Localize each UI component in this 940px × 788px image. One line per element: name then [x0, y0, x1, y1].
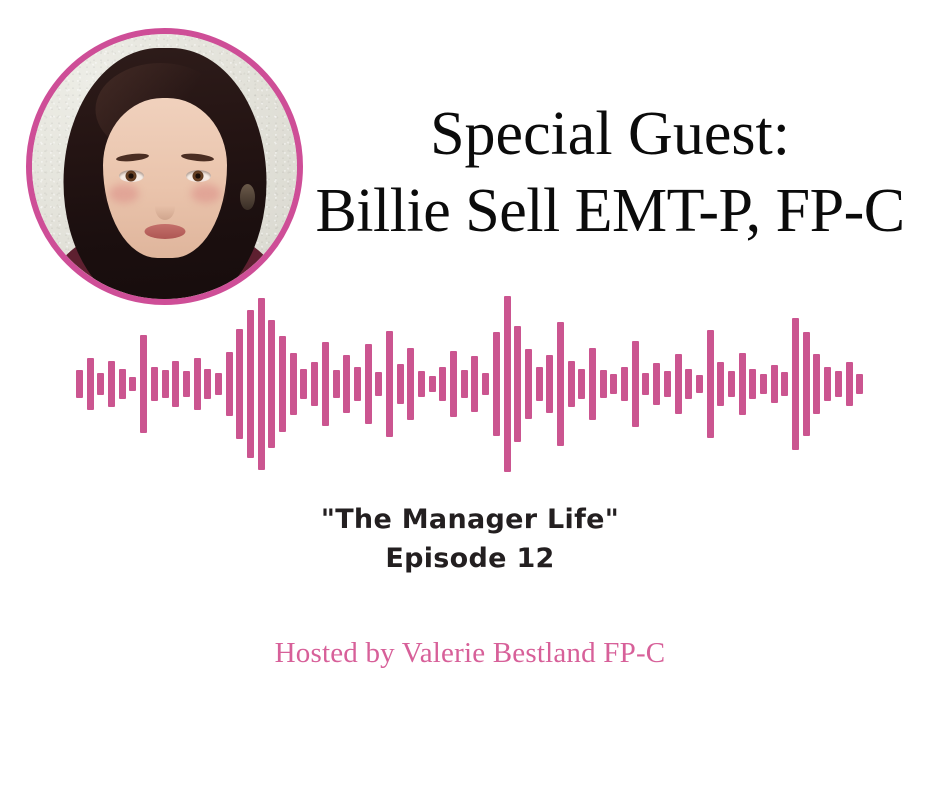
waveform-bar [493, 332, 500, 436]
portrait-cheek-right [191, 184, 221, 203]
waveform-bar [856, 374, 863, 394]
waveform-bar [846, 362, 853, 406]
waveform-bar [824, 367, 831, 401]
waveform-bar [151, 367, 158, 401]
waveform-bar [771, 365, 778, 403]
waveform-bar [194, 358, 201, 410]
waveform-bar [610, 374, 617, 394]
waveform-bar [803, 332, 810, 436]
waveform-bar [87, 358, 94, 410]
portrait-earring [240, 184, 255, 210]
portrait-eye-right [186, 170, 211, 182]
host-prefix-label: Hosted by [275, 637, 402, 669]
waveform-bar [792, 318, 799, 450]
waveform-bar [717, 362, 724, 406]
waveform-bar [760, 374, 767, 394]
portrait-eyebrow-left [115, 152, 149, 162]
waveform-bar [835, 371, 842, 397]
waveform-bar [642, 373, 649, 395]
waveform-bar [685, 369, 692, 399]
waveform-bar [739, 353, 746, 415]
waveform-bar [300, 369, 307, 399]
episode-block: "The Manager Life" Episode 12 [0, 500, 940, 578]
waveform-bar [279, 336, 286, 432]
waveform-bar [632, 341, 639, 427]
waveform-bar [589, 348, 596, 420]
waveform-bar [76, 370, 83, 398]
waveform-bar [311, 362, 318, 406]
host-credit: Hosted by Valerie Bestland FP-C [0, 637, 940, 670]
waveform-bar [119, 369, 126, 399]
waveform-bar [429, 376, 436, 392]
waveform-bar [322, 342, 329, 426]
waveform-bar [162, 370, 169, 398]
headline-line-special-guest: Special Guest: [300, 96, 920, 173]
waveform-bar [215, 373, 222, 395]
waveform-bar [482, 373, 489, 395]
waveform-bar [546, 355, 553, 413]
headline-line-guest-name: Billie Sell EMT-P, FP-C [300, 173, 920, 250]
waveform-bar [247, 310, 254, 458]
waveform-bar [365, 344, 372, 424]
waveform-bar [236, 329, 243, 439]
portrait-iris-left [126, 171, 137, 182]
waveform-bar [557, 322, 564, 446]
show-title: "The Manager Life" [0, 500, 940, 539]
waveform-bar [653, 363, 660, 405]
waveform-bar [439, 367, 446, 401]
waveform-bar [514, 326, 521, 442]
portrait-face [103, 98, 227, 258]
portrait-lips [144, 224, 185, 239]
waveform-bar [461, 370, 468, 398]
portrait-nose [155, 194, 175, 220]
waveform-bar [183, 371, 190, 397]
waveform-bar [290, 353, 297, 415]
waveform-bar [97, 373, 104, 395]
portrait-iris-right [193, 171, 204, 182]
waveform-bar [578, 369, 585, 399]
waveform-bar [749, 369, 756, 399]
episode-number: Episode 12 [0, 539, 940, 578]
waveform-bar [471, 356, 478, 412]
guest-portrait [26, 28, 303, 305]
waveform-bar [504, 296, 511, 472]
waveform-bar [129, 377, 136, 391]
waveform-bar [813, 354, 820, 414]
waveform-bar [343, 355, 350, 413]
waveform-bar [386, 331, 393, 437]
waveform-bar [621, 367, 628, 401]
waveform-bar [397, 364, 404, 404]
waveform-bar [707, 330, 714, 438]
waveform-bar [333, 370, 340, 398]
waveform-bar [268, 320, 275, 448]
portrait-eyebrow-right [180, 152, 214, 162]
waveform-bar [600, 370, 607, 398]
waveform-bar [354, 367, 361, 401]
portrait-cheek-left [109, 184, 139, 203]
headline: Special Guest: Billie Sell EMT-P, FP-C [300, 96, 920, 250]
waveform-bar [568, 361, 575, 407]
waveform-bar [140, 335, 147, 433]
waveform-bar [696, 375, 703, 393]
host-name: Valerie Bestland FP-C [402, 637, 666, 669]
waveform-bar [204, 369, 211, 399]
waveform-bar [536, 367, 543, 401]
audio-waveform [76, 296, 864, 472]
waveform-bar [664, 371, 671, 397]
waveform-bar [781, 372, 788, 396]
waveform-bar [172, 361, 179, 407]
waveform-bar [418, 371, 425, 397]
waveform-bar [375, 372, 382, 396]
podcast-episode-poster: Special Guest: Billie Sell EMT-P, FP-C "… [0, 0, 940, 788]
waveform-bar [226, 352, 233, 416]
waveform-bar [108, 361, 115, 407]
waveform-bar [728, 371, 735, 397]
guest-portrait-image [32, 34, 297, 299]
waveform-bar [525, 349, 532, 419]
waveform-bar [258, 298, 265, 470]
waveform-bar [407, 348, 414, 420]
waveform-bar [450, 351, 457, 417]
waveform-bar [675, 354, 682, 414]
portrait-eye-left [119, 170, 144, 182]
